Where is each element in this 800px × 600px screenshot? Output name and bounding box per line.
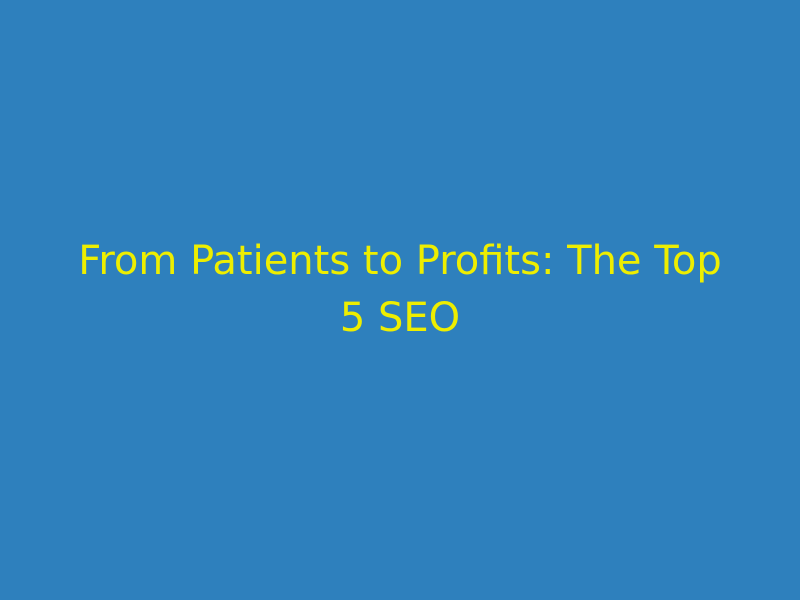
- title-block: From Patients to Profits: The Top 5 SEO: [0, 233, 800, 347]
- page-title: From Patients to Profits: The Top 5 SEO: [66, 233, 734, 347]
- title-card: From Patients to Profits: The Top 5 SEO: [0, 0, 800, 600]
